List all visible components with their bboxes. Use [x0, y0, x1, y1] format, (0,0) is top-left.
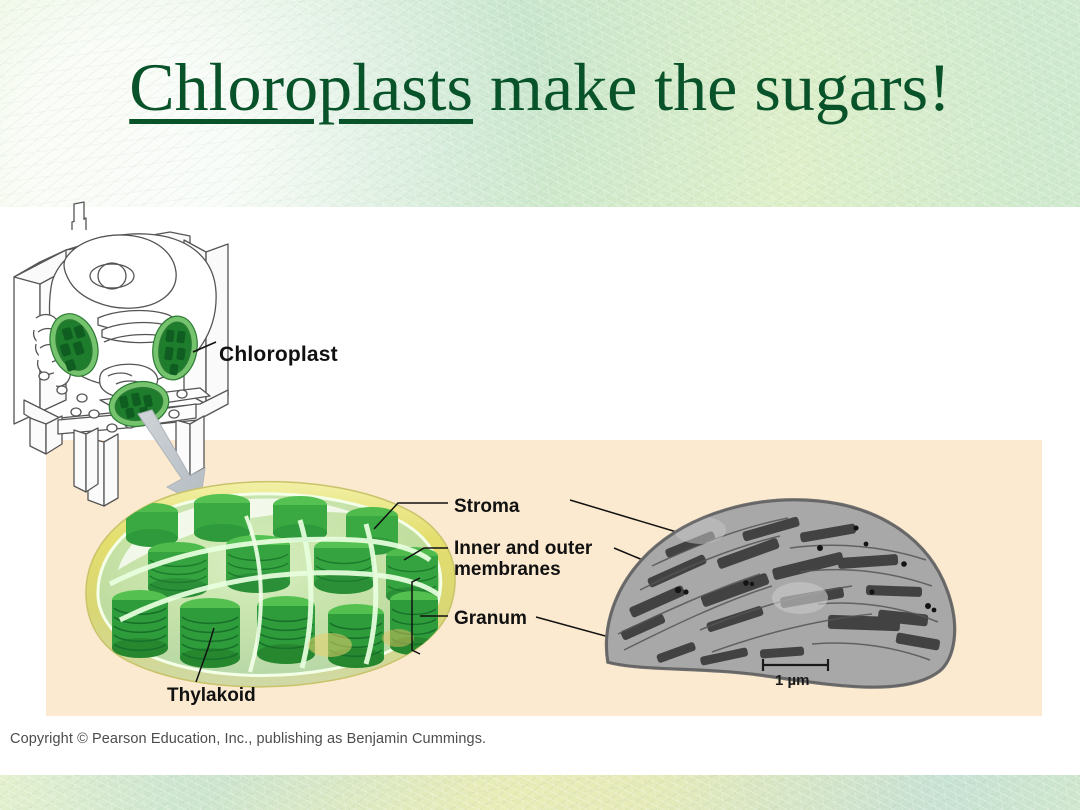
- label-thylakoid: Thylakoid: [167, 685, 256, 707]
- slide: Chloroplasts make the sugars! Copyright …: [0, 0, 1080, 810]
- scale-bar-label: 1 µm: [775, 672, 810, 689]
- page-title-keyword: Chloroplasts: [129, 49, 473, 125]
- label-stroma: Stroma: [454, 496, 519, 518]
- page-title-rest: make the sugars!: [473, 49, 951, 125]
- label-granum: Granum: [454, 608, 527, 630]
- figure-credit: Copyright © Pearson Education, Inc., pub…: [10, 731, 486, 747]
- page-title: Chloroplasts make the sugars!: [0, 52, 1080, 123]
- label-inner-and-outer-membranes: Inner and outer membranes: [454, 538, 624, 580]
- label-chloroplast: Chloroplast: [219, 343, 338, 367]
- figure-canvas: Copyright © Pearson Education, Inc., pub…: [0, 207, 1080, 775]
